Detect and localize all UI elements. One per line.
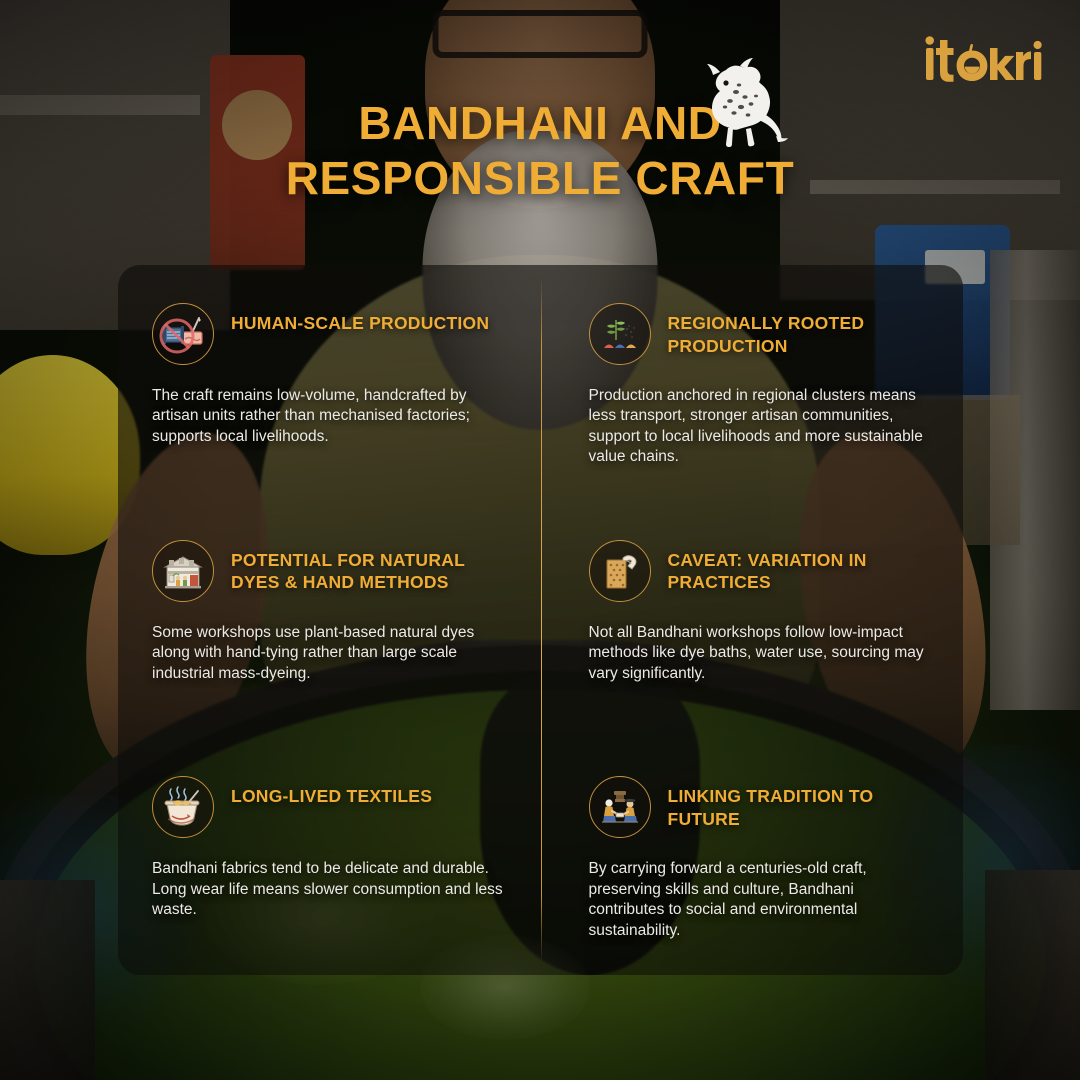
feature-body: Production anchored in regional clusters… bbox=[589, 386, 930, 468]
feature-item-long-lived-textiles: LONG-LIVED TEXTILES Bandhani fabrics ten… bbox=[118, 738, 541, 975]
feature-body: The craft remains low-volume, handcrafte… bbox=[152, 386, 511, 447]
no-machine-loom-icon bbox=[152, 303, 214, 365]
feature-body: Bandhani fabrics tend to be delicate and… bbox=[152, 859, 511, 920]
sprout-natural-dye-piles-icon bbox=[589, 303, 651, 365]
feature-header: LONG-LIVED TEXTILES bbox=[152, 776, 511, 838]
feature-title: LONG-LIVED TEXTILES bbox=[231, 776, 432, 808]
page-title-line-2: RESPONSIBLE CRAFT bbox=[0, 151, 1080, 206]
feature-body: Not all Bandhani workshops follow low-im… bbox=[589, 623, 930, 684]
feature-item-human-scale-production: HUMAN-SCALE PRODUCTION The craft remains… bbox=[118, 265, 541, 502]
feature-item-linking-tradition-to-future: LINKING TRADITION TO FUTURE By carrying … bbox=[541, 738, 964, 975]
feature-body: By carrying forward a centuries-old craf… bbox=[589, 859, 930, 941]
feature-item-natural-dyes-hand-methods: POTENTIAL FOR NATURAL DYES & HAND METHOD… bbox=[118, 502, 541, 739]
feature-header: POTENTIAL FOR NATURAL DYES & HAND METHOD… bbox=[152, 540, 511, 602]
feature-item-caveat-variation-in-practices: CAVEAT: VARIATION IN PRACTICES Not all B… bbox=[541, 502, 964, 739]
artisan-workshop-building-icon bbox=[152, 540, 214, 602]
feature-item-regionally-rooted-production: REGIONALLY ROOTED PRODUCTION Production … bbox=[541, 265, 964, 502]
features-grid: HUMAN-SCALE PRODUCTION The craft remains… bbox=[118, 265, 963, 975]
feature-title: CAVEAT: VARIATION IN PRACTICES bbox=[668, 540, 930, 595]
steaming-dye-pot-icon bbox=[152, 776, 214, 838]
feature-title: HUMAN-SCALE PRODUCTION bbox=[231, 303, 489, 335]
feature-title: POTENTIAL FOR NATURAL DYES & HAND METHOD… bbox=[231, 540, 501, 595]
feature-body: Some workshops use plant-based natural d… bbox=[152, 623, 511, 684]
feature-header: CAVEAT: VARIATION IN PRACTICES bbox=[589, 540, 930, 602]
feature-header: LINKING TRADITION TO FUTURE bbox=[589, 776, 930, 838]
feature-header: HUMAN-SCALE PRODUCTION bbox=[152, 303, 511, 365]
hand-holding-patterned-fabric-icon bbox=[589, 540, 651, 602]
feature-title: LINKING TRADITION TO FUTURE bbox=[668, 776, 930, 831]
two-artisans-working-icon bbox=[589, 776, 651, 838]
feature-title: REGIONALLY ROOTED PRODUCTION bbox=[668, 303, 930, 358]
page-title: BANDHANI AND RESPONSIBLE CRAFT bbox=[0, 96, 1080, 206]
itokri-logo-icon bbox=[924, 36, 1042, 82]
features-card: HUMAN-SCALE PRODUCTION The craft remains… bbox=[118, 265, 963, 975]
page-title-line-1: BANDHANI AND bbox=[0, 96, 1080, 151]
feature-header: REGIONALLY ROOTED PRODUCTION bbox=[589, 303, 930, 365]
itokri-logo[interactable] bbox=[924, 36, 1042, 82]
goat-illustration-icon bbox=[688, 52, 800, 153]
